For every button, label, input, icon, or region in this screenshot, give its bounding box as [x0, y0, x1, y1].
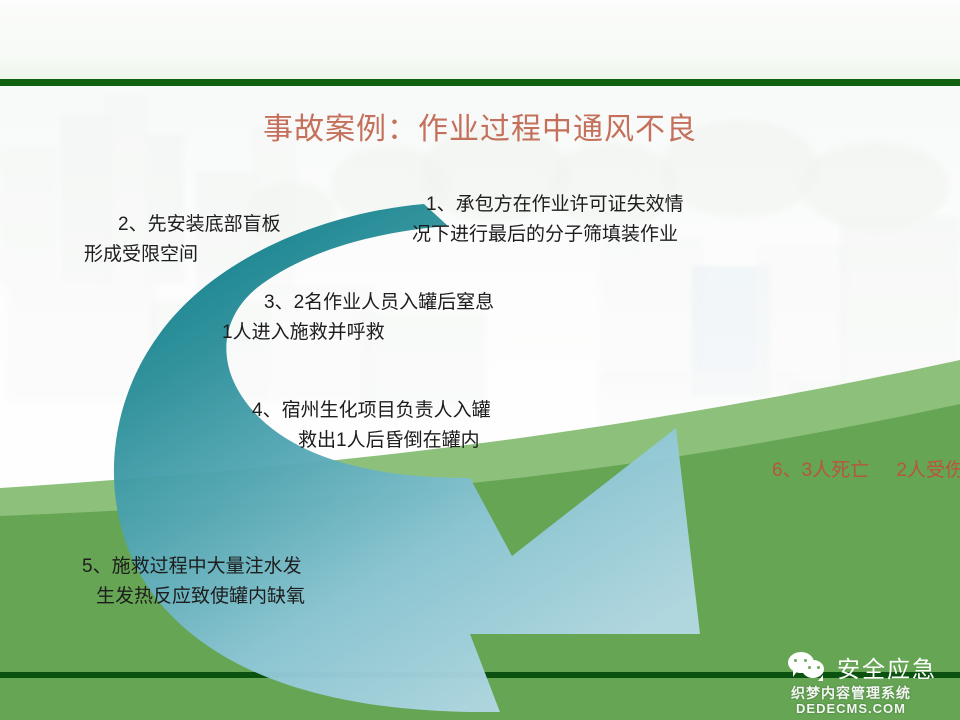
step-3-line-1: 3、2名作业人员入罐后窒息: [222, 288, 494, 318]
step-text-2: 2、先安装底部盲板 形成受限空间: [84, 210, 281, 270]
step-text-4: 4、宿州生化项目负责人入罐 救出1人后昏倒在罐内: [252, 396, 491, 456]
brand-name: 安全应急: [837, 650, 937, 684]
step-6-line-1: 6、3人死亡: [772, 460, 869, 481]
step-text-6-outcome: 6、3人死亡 2人受伤: [772, 456, 960, 485]
step-2-line-2: 形成受限空间: [84, 240, 281, 270]
step-text-3: 3、2名作业人员入罐后窒息 1人进入施救并呼救: [222, 288, 494, 348]
step-5-line-1: 5、施救过程中大量注水发: [82, 552, 305, 582]
step-4-line-2: 救出1人后昏倒在罐内: [252, 426, 491, 456]
step-1-line-2: 况下进行最后的分子筛填装作业: [412, 220, 684, 250]
watermark: 织梦内容管理系统 DEDECMS.COM: [742, 686, 960, 716]
step-2-line-1: 2、先安装底部盲板: [84, 210, 281, 240]
watermark-line-2: DEDECMS.COM: [742, 701, 960, 716]
step-3-line-2: 1人进入施救并呼救: [222, 318, 494, 348]
step-text-1: 1、承包方在作业许可证失效情 况下进行最后的分子筛填装作业: [412, 190, 684, 250]
wechat-icon: [788, 652, 828, 682]
step-6-line-2: 2人受伤: [874, 460, 960, 481]
page-title: 事故案例：作业过程中通风不良: [0, 104, 960, 148]
top-green-rule: [0, 79, 960, 86]
step-1-line-1: 1、承包方在作业许可证失效情: [412, 190, 684, 220]
slide-top-margin: [0, 0, 960, 80]
watermark-line-1: 织梦内容管理系统: [742, 686, 960, 701]
slide-canvas: 事故案例：作业过程中通风不良 1、承包方在作业许可证失效情 况下进行最后的分子筛…: [0, 0, 960, 720]
step-text-5: 5、施救过程中大量注水发 生发热反应致使罐内缺氧: [82, 552, 305, 612]
step-5-line-2: 生发热反应致使罐内缺氧: [82, 582, 305, 612]
arrow-body: [114, 204, 700, 712]
brand-block: 安全应急: [788, 650, 937, 684]
step-4-line-1: 4、宿州生化项目负责人入罐: [252, 396, 491, 426]
